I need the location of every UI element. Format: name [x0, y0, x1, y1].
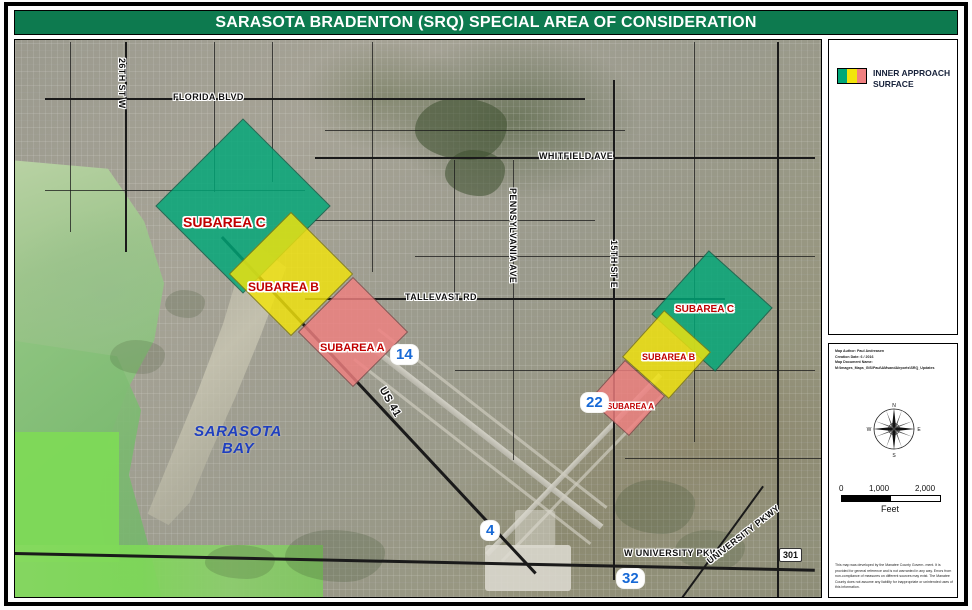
scale-segment-dark [842, 496, 891, 501]
legend-swatch-green [838, 69, 847, 83]
scale-bar: 0 1,000 2,000 Feet [839, 484, 951, 514]
map-frame[interactable]: SUBAREA C SUBAREA B SUBAREA A SUBAREA C … [14, 39, 822, 598]
scale-tick-1: 1,000 [869, 484, 889, 493]
metadata-document-path: M:\Images_Maps_GIS\Paul\AMsandAirports\S… [835, 366, 953, 372]
map-disclaimer: This map was developed by the Manatee Co… [835, 563, 953, 591]
map-canvas[interactable]: SUBAREA C SUBAREA B SUBAREA A SUBAREA C … [15, 40, 821, 597]
road-301 [777, 42, 779, 597]
road-pennsylvania-ave [513, 160, 514, 460]
scale-bar-ticks: 0 1,000 2,000 [839, 484, 951, 495]
map-title-bar: SARASOTA BRADENTON (SRQ) SPECIAL AREA OF… [14, 10, 958, 35]
road-15th-st-e [613, 80, 615, 580]
svg-text:E: E [917, 427, 921, 433]
page-title: SARASOTA BRADENTON (SRQ) SPECIAL AREA OF… [215, 14, 756, 32]
vegetation-patch [205, 545, 275, 579]
green-parcel-southwest [15, 432, 119, 562]
road-minor [372, 42, 373, 272]
scale-bar-unit: Feet [839, 504, 941, 514]
legend-swatch-red [857, 69, 866, 83]
vegetation-patch [110, 340, 165, 374]
scale-tick-0: 0 [839, 484, 843, 493]
svg-text:W: W [867, 427, 872, 433]
svg-text:N: N [892, 403, 896, 409]
road-minor [70, 42, 71, 232]
scale-bar-graphic [841, 495, 941, 502]
vegetation-patch [165, 290, 205, 318]
compass-rose-icon: N S E W [865, 400, 923, 458]
legend-entry-label: INNER APPROACH SURFACE [873, 68, 951, 91]
road-minor [454, 160, 455, 300]
road-minor [625, 458, 821, 459]
road-minor [315, 220, 595, 221]
road-minor [415, 256, 815, 257]
legend-swatch-yellow [847, 69, 856, 83]
road-florida-blvd [45, 98, 585, 100]
legend-entry-inner-approach-surface: INNER APPROACH SURFACE [837, 68, 951, 91]
road-whitfield-ave [315, 157, 815, 159]
legend-panel: INNER APPROACH SURFACE [828, 39, 958, 335]
road-minor [694, 42, 695, 442]
scale-tick-2: 2,000 [915, 484, 935, 493]
svg-text:S: S [892, 453, 896, 458]
map-page: SARASOTA BRADENTON (SRQ) SPECIAL AREA OF… [0, 0, 972, 610]
map-metadata-block: Map Author: Paul Andreasen Creation Date… [835, 349, 953, 371]
road-minor [325, 130, 625, 131]
map-info-panel: Map Author: Paul Andreasen Creation Date… [828, 343, 958, 598]
legend-swatch-icon [837, 68, 867, 84]
scale-segment-light [891, 496, 940, 501]
road-26th-st-w [125, 42, 127, 252]
airport-apron [515, 510, 555, 548]
